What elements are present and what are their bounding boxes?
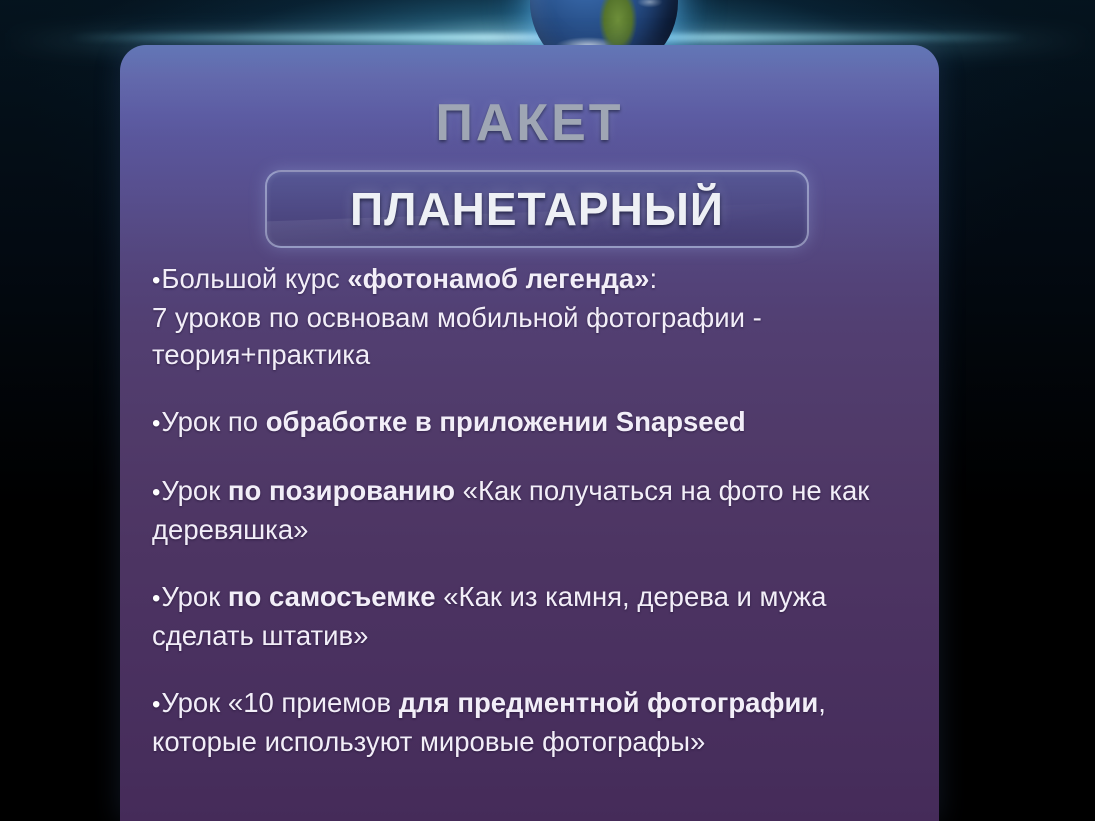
list-item-emphasis: обработке в приложении Snapseed <box>266 406 746 437</box>
list-item-text: : <box>649 263 657 294</box>
list-item-text: Урок <box>161 475 228 506</box>
list-item: •Урок «10 приемов для предментной фотогр… <box>152 684 912 760</box>
package-title: ПЛАНЕТАРНЫЙ <box>350 182 724 236</box>
list-item-text: 7 уроков по освновам мобильной фотографи… <box>152 302 762 370</box>
slide-root: ПАКЕТ ПЛАНЕТАРНЫЙ •Большой курс «фотонам… <box>0 0 1095 821</box>
list-item-emphasis: для предментной фотографии <box>399 687 819 718</box>
list-item: •Урок по обработке в приложении Snapseed <box>152 403 912 442</box>
bullet-dot-icon: • <box>152 479 160 506</box>
list-item: •Урок по самосъемке «Как из камня, дерев… <box>152 578 912 654</box>
list-item-text: Большой курс <box>161 263 347 294</box>
bullet-dot-icon: • <box>152 410 160 437</box>
list-item-emphasis: «фотонамоб легенда» <box>347 263 649 294</box>
list-item: •Большой курс «фотонамоб легенда»:7 урок… <box>152 260 912 373</box>
bullet-dot-icon: • <box>152 691 160 718</box>
package-title-box: ПЛАНЕТАРНЫЙ <box>265 170 809 248</box>
list-item-text: Урок «10 приемов <box>161 687 398 718</box>
bullet-dot-icon: • <box>152 585 160 612</box>
list-item-text: Урок по <box>161 406 265 437</box>
list-item-emphasis: по позированию <box>228 475 455 506</box>
package-feature-list: •Большой курс «фотонамоб легенда»:7 урок… <box>152 260 912 760</box>
list-item: •Урок по позированию «Как получаться на … <box>152 472 912 548</box>
list-item-emphasis: по самосъемке <box>228 581 436 612</box>
bullet-dot-icon: • <box>152 267 160 294</box>
list-item-text: Урок <box>161 581 228 612</box>
package-eyebrow: ПАКЕТ <box>120 93 939 153</box>
package-card: ПАКЕТ ПЛАНЕТАРНЫЙ •Большой курс «фотонам… <box>120 45 939 821</box>
